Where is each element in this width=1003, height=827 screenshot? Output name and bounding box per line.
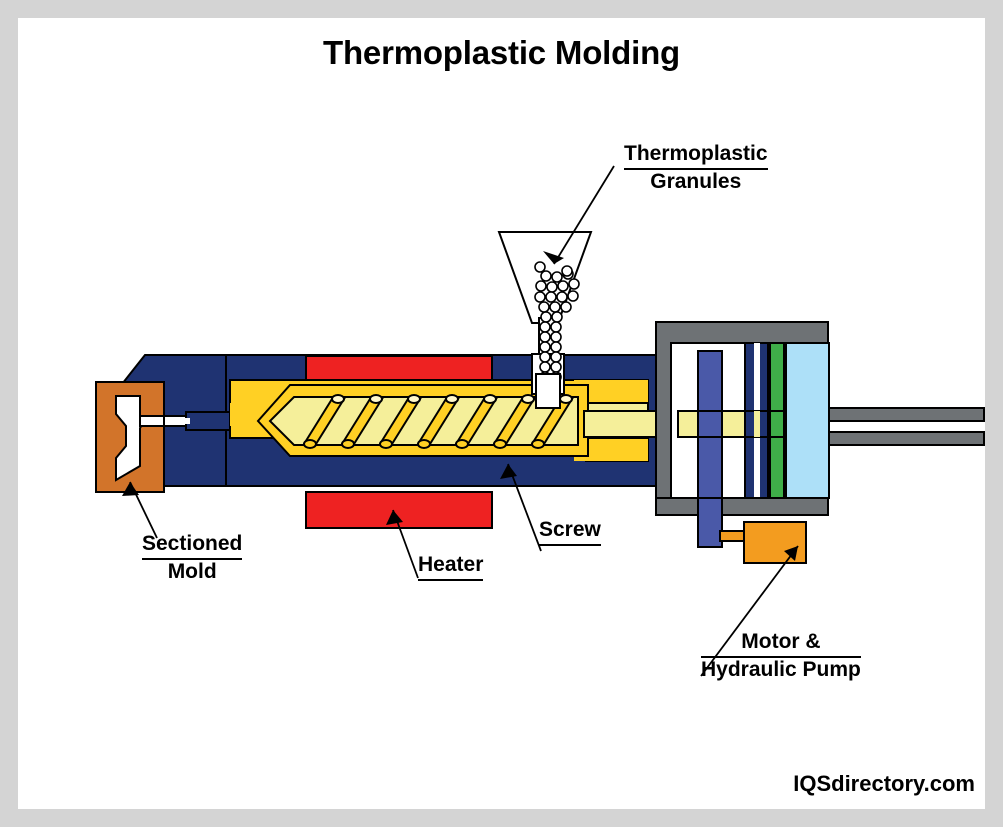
- shaft-through-housing: [678, 411, 784, 437]
- hopper-throat-opening: [536, 374, 560, 408]
- label-motor-line1: Motor &: [701, 630, 861, 658]
- label-heater-line1: Heater: [418, 553, 483, 581]
- diagram-page: Thermoplastic Molding: [0, 0, 1003, 827]
- label-mold-line1: Sectioned: [142, 532, 242, 560]
- housing-bottom-rail: [656, 498, 828, 515]
- label-screw: Screw: [539, 518, 601, 546]
- label-granules-line2: Granules: [624, 170, 768, 195]
- label-screw-line1: Screw: [539, 518, 601, 546]
- label-sectioned-mold: Sectioned Mold: [142, 532, 242, 585]
- label-motor-hydraulic-pump: Motor & Hydraulic Pump: [701, 630, 861, 683]
- molding-machine-illustration: [18, 18, 985, 809]
- label-heater: Heater: [418, 553, 483, 581]
- tie-rods: [804, 408, 984, 445]
- label-motor-line2: Hydraulic Pump: [701, 658, 861, 683]
- ram-bar-lower: [698, 498, 722, 547]
- label-thermoplastic-granules: Thermoplastic Granules: [624, 142, 768, 195]
- watermark: IQSdirectory.com: [793, 771, 975, 797]
- label-granules-line1: Thermoplastic: [624, 142, 768, 170]
- label-mold-line2: Mold: [142, 560, 242, 585]
- sectioned-mold: [96, 382, 164, 492]
- diagram-canvas: Thermoplastic Molding: [18, 18, 985, 809]
